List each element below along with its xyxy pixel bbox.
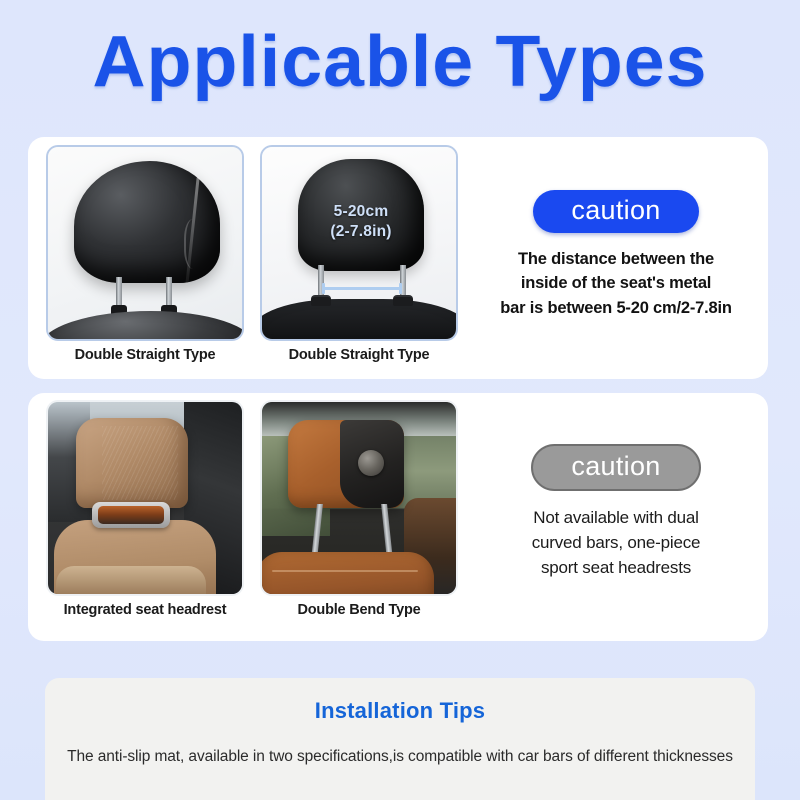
infographic-page: Applicable Types Double Straight Type — [0, 0, 800, 800]
installation-tips-title: Installation Tips — [45, 698, 755, 724]
photo-card-double-bend: Double Bend Type — [260, 400, 458, 618]
photo-caption: Double Bend Type — [260, 602, 458, 618]
installation-tips-panel: Installation Tips The anti-slip mat, ava… — [45, 678, 755, 800]
photo-frame — [46, 400, 244, 596]
side-panel — [184, 219, 206, 269]
caution-badge-gray: caution — [531, 444, 700, 491]
headrest-illustration-dimension: 5-20cm (2-7.8in) — [262, 147, 456, 339]
seat-back — [260, 299, 458, 341]
photo-card-double-straight-1: Double Straight Type — [46, 145, 244, 363]
dimension-label-cm: 5-20cm — [262, 203, 458, 220]
page-title: Applicable Types — [0, 26, 800, 98]
photo-frame: 5-20cm (2-7.8in) — [260, 145, 458, 341]
post-collar-right — [393, 295, 413, 306]
dimension-line — [322, 287, 402, 290]
car-interior-illustration-brown — [262, 402, 456, 594]
caution-line: Not available with dual — [478, 505, 754, 530]
embossed-logo — [88, 552, 93, 559]
caution-line: bar is between 5-20 cm/2-7.8in — [478, 296, 754, 320]
caution-description: Not available with dual curved bars, one… — [478, 505, 754, 580]
photo-frame — [260, 400, 458, 596]
photo-card-integrated-headrest: Integrated seat headrest — [46, 400, 244, 618]
photo-caption: Double Straight Type — [46, 347, 244, 363]
chrome-trim-opening — [92, 502, 170, 528]
photo-frame — [46, 145, 244, 341]
seat-seam — [272, 570, 418, 572]
post-collar-left — [311, 295, 331, 306]
perforation-texture — [102, 426, 178, 500]
caution-description: The distance between the inside of the s… — [478, 247, 754, 320]
dimension-cap-right — [399, 283, 402, 294]
dimension-cap-left — [322, 283, 325, 294]
headrest-illustration-black-straight — [48, 147, 242, 339]
caution-badge-blue: caution — [533, 190, 698, 233]
car-interior-illustration-tan — [48, 402, 242, 594]
seat-back — [46, 311, 244, 341]
headrest-button — [358, 450, 384, 476]
photo-caption: Integrated seat headrest — [46, 602, 244, 618]
dimension-label-inch: (2-7.8in) — [262, 223, 458, 240]
caution-line: The distance between the — [478, 247, 754, 271]
caution-line: inside of the seat's metal — [478, 271, 754, 295]
headrest-cushion — [74, 161, 220, 283]
caution-line: sport seat headrests — [478, 555, 754, 580]
photo-caption: Double Straight Type — [260, 347, 458, 363]
dimension-arrow — [322, 283, 402, 293]
trim-inner-shadow — [98, 506, 164, 524]
caution-block-compatible: caution The distance between the inside … — [478, 190, 754, 320]
seat-back — [260, 552, 434, 596]
caution-line: curved bars, one-piece — [478, 530, 754, 555]
installation-tips-body: The anti-slip mat, available in two spec… — [45, 748, 755, 766]
seat-base — [56, 566, 206, 594]
headrest-cushion — [76, 418, 188, 508]
caution-block-incompatible: caution Not available with dual curved b… — [478, 444, 754, 580]
photo-card-double-straight-2: 5-20cm (2-7.8in) Double Straight Type — [260, 145, 458, 363]
